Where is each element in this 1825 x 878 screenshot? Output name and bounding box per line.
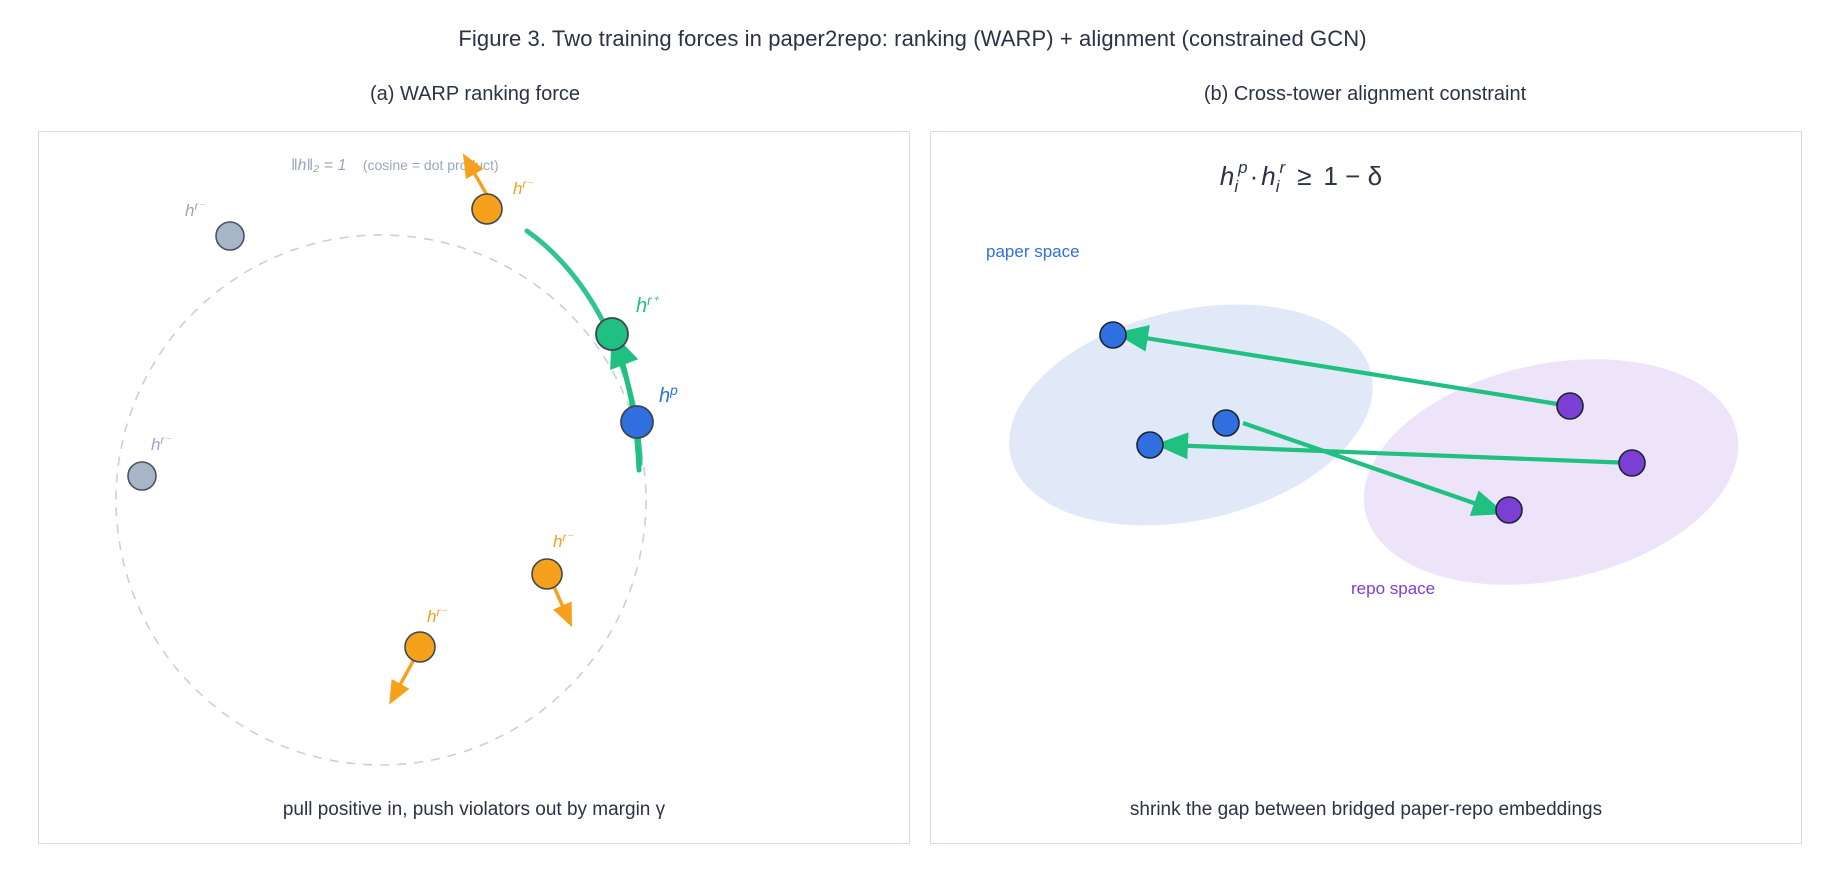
paper-node-1[interactable] (1100, 322, 1126, 348)
label-violator-top: hr⁻ (513, 179, 533, 198)
repo-node-2[interactable] (1619, 450, 1645, 476)
panel-a-caption: pull positive in, push violators out by … (39, 799, 909, 821)
unit-norm-text: ‖h‖₂ = 1 (291, 157, 346, 174)
unit-norm-label: ‖h‖₂ = 1 (cosine = dot product) (291, 157, 499, 174)
label-h: h (636, 295, 647, 317)
node-inactive-upper-left[interactable] (216, 222, 244, 250)
label-sup: r⁻ (562, 532, 573, 544)
label-h: h (151, 435, 160, 454)
label-h: h (513, 179, 522, 198)
label-h: h (659, 385, 670, 407)
paper-space-label: paper space (986, 242, 1080, 261)
label-h: h (427, 607, 436, 626)
eq-lhs-sub: i (1234, 177, 1239, 196)
alignment-equation: hip·hir≥1 − δ (1220, 158, 1382, 196)
label-sup: r⁻ (160, 435, 171, 447)
label-sup: r⁻ (522, 179, 533, 191)
unit-circle (116, 235, 646, 765)
eq-relation: ≥ (1297, 161, 1311, 191)
repo-space-region (1343, 327, 1760, 617)
node-violator-bottom[interactable] (405, 632, 435, 662)
label-h: h (553, 532, 562, 551)
label-sup: r⁺ (647, 293, 661, 308)
label-h: h (185, 201, 194, 220)
paper-node-3[interactable] (1213, 410, 1239, 436)
node-inactive-lower-left[interactable] (128, 462, 156, 490)
paper-node-2[interactable] (1137, 432, 1163, 458)
repo-space-label: repo space (1351, 579, 1435, 598)
eq-dot: · (1250, 161, 1259, 191)
node-violator-top[interactable] (472, 194, 502, 224)
label-violator-lower-right: hr⁻ (553, 532, 573, 551)
label-sup: r⁻ (436, 607, 447, 619)
label-inactive-upper-left: hr⁻ (185, 201, 205, 220)
eq-rhs-sub: i (1276, 177, 1281, 196)
node-violator-lower-right[interactable] (532, 559, 562, 589)
panel-alignment-constraint: hip·hir≥1 − δ paper space repo space shr… (930, 131, 1802, 844)
alignment-diagram: hip·hir≥1 − δ paper space repo space (931, 132, 1801, 843)
panel-warp-ranking: ‖h‖₂ = 1 (cosine = dot product) hr⁻ hr⁻ … (38, 131, 910, 844)
repo-node-3[interactable] (1496, 497, 1522, 523)
eq-rhs-sup: r (1280, 158, 1287, 177)
warp-diagram: ‖h‖₂ = 1 (cosine = dot product) hr⁻ hr⁻ … (39, 132, 909, 843)
figure-title: Figure 3. Two training forces in paper2r… (0, 26, 1825, 52)
label-sup: p (669, 383, 678, 398)
node-positive[interactable] (596, 318, 628, 350)
panel-b-subtitle: (b) Cross-tower alignment constraint (930, 83, 1800, 106)
panel-b-caption: shrink the gap between bridged paper-rep… (931, 799, 1801, 821)
label-sup: r⁻ (194, 201, 205, 213)
eq-lhs-h: h (1220, 161, 1234, 191)
eq-bound: 1 − δ (1324, 161, 1383, 191)
paper-space-region (987, 271, 1395, 559)
label-anchor: hp (659, 383, 678, 407)
label-positive: hr⁺ (636, 293, 661, 317)
eq-lhs-sup: p (1237, 158, 1247, 177)
label-inactive-lower-left: hr⁻ (151, 435, 171, 454)
eq-rhs-h: h (1261, 161, 1275, 191)
label-violator-bottom: hr⁻ (427, 607, 447, 626)
panel-a-subtitle: (a) WARP ranking force (40, 83, 910, 106)
node-anchor[interactable] (621, 406, 653, 438)
unit-norm-aside: (cosine = dot product) (363, 157, 499, 173)
repo-node-1[interactable] (1557, 393, 1583, 419)
